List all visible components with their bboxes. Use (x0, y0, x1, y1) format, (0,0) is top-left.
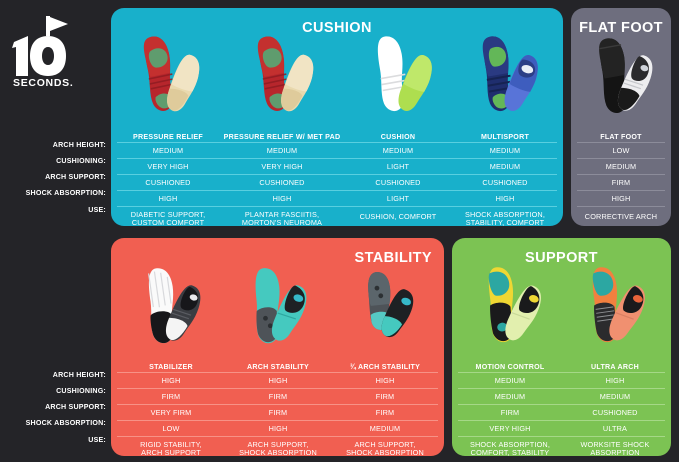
cell-arch-support: FIRM (457, 409, 563, 418)
cell-arch-support: CUSHIONED (117, 179, 219, 188)
cell-shock-absorption: LIGHT (345, 195, 451, 204)
column-name: PRESSURE RELIEF W/ MET PAD (221, 133, 343, 141)
cell-shock-absorption: HIGH (117, 195, 219, 204)
column-cushion[interactable]: CUSHION MEDIUM LIGHT CUSHIONED LIGHT CUS… (345, 8, 451, 226)
cell-arch-height: HIGH (563, 377, 667, 386)
row-label-shock-absorption: SHOCK ABSORPTION: (0, 189, 106, 197)
column-name: MULTISPORT (453, 133, 557, 141)
column-motion-control[interactable]: MOTION CONTROL MEDIUM MEDIUM FIRM VERY H… (457, 238, 563, 456)
cell-cushioning: VERY HIGH (221, 163, 343, 172)
insole-teal-icon (245, 266, 309, 348)
cell-use: WORKSITE SHOCK ABSORPTION (563, 441, 667, 456)
cell-use: PLANTAR FASCIITIS, MORTON'S NEUROMA (221, 211, 343, 226)
cell-arch-height: MEDIUM (453, 147, 557, 156)
insole-white-black-icon (139, 266, 203, 348)
cell-shock-absorption: ULTRA (563, 425, 667, 434)
cell-arch-support: CUSHIONED (453, 179, 557, 188)
insole-black-white-icon (591, 36, 653, 116)
cell-cushioning: FIRM (117, 393, 225, 402)
row-label-shock-absorption: SHOCK ABSORPTION: (0, 419, 106, 427)
cell-arch-height: MEDIUM (221, 147, 343, 156)
column-name: FLAT FOOT (575, 133, 667, 141)
insole-red-tan-icon (135, 32, 201, 116)
row-label-cushioning: CUSHIONING: (0, 387, 106, 395)
cell-arch-support: FIRM (225, 409, 331, 418)
cell-shock-absorption: HIGH (225, 425, 331, 434)
cell-use: RIGID STABILITY, ARCH SUPPORT (117, 441, 225, 456)
cell-arch-support: FIRM (331, 409, 439, 418)
cell-cushioning: FIRM (225, 393, 331, 402)
column-name: STABILIZER (117, 363, 225, 371)
cell-arch-height: HIGH (225, 377, 331, 386)
column-name: ARCH STABILITY (225, 363, 331, 371)
insole-yellow-teal-icon (477, 264, 543, 348)
row-labels-top: ARCH HEIGHT: CUSHIONING: ARCH SUPPORT: S… (0, 136, 106, 226)
cell-arch-height: MEDIUM (345, 147, 451, 156)
cell-shock-absorption: MEDIUM (331, 425, 439, 434)
brand-logo: SECONDS. (8, 14, 80, 88)
row-label-arch-support: ARCH SUPPORT: (0, 403, 106, 411)
insole-blue-icon (473, 32, 539, 116)
column-flat-foot[interactable]: FLAT FOOT LOW MEDIUM FIRM HIGH CORRECTIV… (575, 8, 667, 226)
cell-arch-support: CUSHIONED (345, 179, 451, 188)
column-name: CUSHION (345, 133, 451, 141)
cell-cushioning: MEDIUM (575, 163, 667, 172)
row-label-arch-height: ARCH HEIGHT: (0, 371, 106, 379)
column-three-quarter-arch-stability[interactable]: ¾ ARCH STABILITY HIGH FIRM FIRM MEDIUM A… (331, 238, 439, 456)
column-name: PRESSURE RELIEF (117, 133, 219, 141)
cell-cushioning: VERY HIGH (117, 163, 219, 172)
cell-arch-height: MEDIUM (117, 147, 219, 156)
cell-arch-height: MEDIUM (457, 377, 563, 386)
cell-shock-absorption: LOW (117, 425, 225, 434)
column-ultra-arch[interactable]: ULTRA ARCH HIGH MEDIUM CUSHIONED ULTRA W… (563, 238, 667, 456)
row-labels-bottom: ARCH HEIGHT: CUSHIONING: ARCH SUPPORT: S… (0, 366, 106, 458)
cell-arch-support: VERY FIRM (117, 409, 225, 418)
column-name: MOTION CONTROL (457, 363, 563, 371)
cell-use: ARCH SUPPORT, SHOCK ABSORPTION (331, 441, 439, 456)
row-label-arch-height: ARCH HEIGHT: (0, 141, 106, 149)
cell-arch-support: CUSHIONED (221, 179, 343, 188)
cell-arch-height: LOW (575, 147, 667, 156)
insole-teal-short-icon (357, 268, 417, 344)
cell-cushioning: FIRM (331, 393, 439, 402)
column-pressure-relief[interactable]: PRESSURE RELIEF MEDIUM VERY HIGH CUSHION… (117, 8, 219, 226)
cell-arch-height: HIGH (331, 377, 439, 386)
row-label-arch-support: ARCH SUPPORT: (0, 173, 106, 181)
cell-arch-support: FIRM (575, 179, 667, 188)
cell-use: DIABETIC SUPPORT, CUSTOM COMFORT (117, 211, 219, 226)
cell-use: ARCH SUPPORT, SHOCK ABSORPTION (225, 441, 331, 456)
column-pressure-relief-met-pad[interactable]: PRESSURE RELIEF W/ MET PAD MEDIUM VERY H… (221, 8, 343, 226)
cell-use: CUSHION, COMFORT (345, 213, 451, 221)
cell-arch-height: HIGH (117, 377, 225, 386)
panel-stability: STABILITY (111, 238, 444, 456)
cell-cushioning: MEDIUM (453, 163, 557, 172)
panel-cushion: CUSHION (111, 8, 563, 226)
cell-arch-support: CUSHIONED (563, 409, 667, 418)
cell-shock-absorption: HIGH (221, 195, 343, 204)
row-label-use: USE: (0, 206, 106, 214)
cell-cushioning: MEDIUM (457, 393, 563, 402)
cell-use: SHOCK ABSORPTION, COMFORT, STABILITY (457, 441, 563, 456)
column-multisport[interactable]: MULTISPORT MEDIUM MEDIUM CUSHIONED HIGH … (453, 8, 557, 226)
row-label-use: USE: (0, 436, 106, 444)
cell-use: CORRECTIVE ARCH (575, 213, 667, 222)
column-name: ¾ ARCH STABILITY (331, 363, 439, 371)
cell-cushioning: LIGHT (345, 163, 451, 172)
svg-text:SECONDS.: SECONDS. (13, 77, 73, 88)
cell-cushioning: MEDIUM (563, 393, 667, 402)
cell-shock-absorption: HIGH (453, 195, 557, 204)
row-label-cushioning: CUSHIONING: (0, 157, 106, 165)
panel-flat-foot: FLAT FOOT (571, 8, 671, 226)
insole-orange-icon (581, 264, 647, 348)
insole-red-tan-icon (249, 32, 315, 116)
cell-use: SHOCK ABSORPTION, STABILITY, COMFORT (453, 211, 557, 226)
insole-comparison-chart: SECONDS. ARCH HEIGHT: CUSHIONING: ARCH S… (0, 0, 679, 462)
column-stabilizer[interactable]: STABILIZER HIGH FIRM VERY FIRM LOW RIGID… (117, 238, 225, 456)
insole-white-green-icon (367, 32, 433, 116)
cell-shock-absorption: HIGH (575, 195, 667, 204)
cell-shock-absorption: VERY HIGH (457, 425, 563, 434)
panel-support: SUPPORT (452, 238, 671, 456)
column-arch-stability[interactable]: ARCH STABILITY HIGH FIRM FIRM HIGH ARCH … (225, 238, 331, 456)
column-name: ULTRA ARCH (563, 363, 667, 371)
